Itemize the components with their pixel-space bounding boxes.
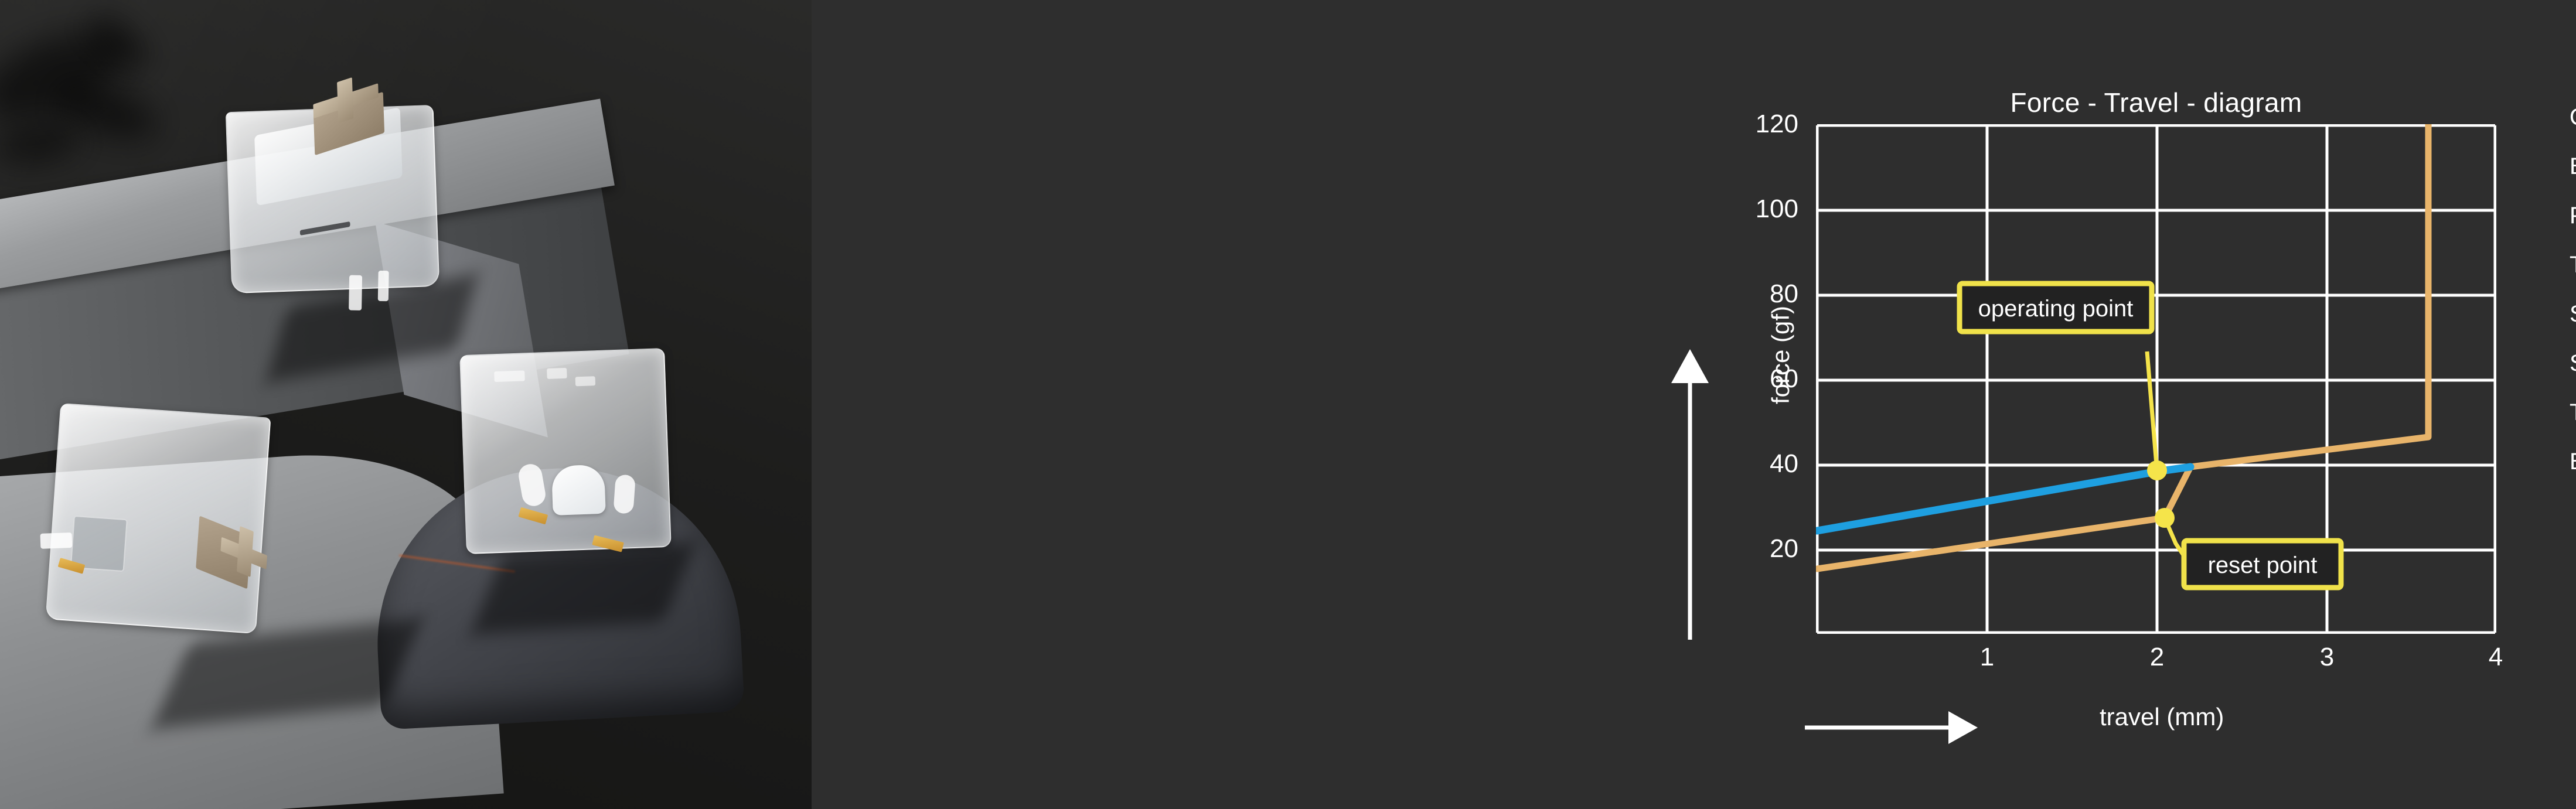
keyboard-switch-upright bbox=[226, 105, 440, 293]
x-axis-label: travel (mm) bbox=[2100, 703, 2224, 731]
x-tick-label: 4 bbox=[2461, 644, 2531, 670]
reset-point-label: reset point bbox=[2208, 552, 2318, 578]
release-curve bbox=[1817, 124, 2428, 569]
y-axis-arrow-icon bbox=[1664, 341, 1716, 646]
y-axis-ticks: 120 100 80 60 40 20 bbox=[1716, 124, 1798, 634]
spec-label: Top Housing Material bbox=[2570, 400, 2576, 426]
keyboard-switch-underside bbox=[459, 348, 672, 554]
table-row: Total travel 3.6±0.2mm bbox=[2570, 252, 2576, 301]
y-tick-label: 20 bbox=[1716, 536, 1798, 562]
switch-leg bbox=[613, 474, 636, 514]
x-axis-ticks: 1 2 3 4 bbox=[1816, 644, 2496, 680]
reset-point-marker bbox=[2155, 508, 2175, 528]
switch-rib bbox=[494, 370, 525, 382]
keyboard-switch-side bbox=[46, 403, 271, 634]
spec-label: Operation Force bbox=[2570, 104, 2576, 131]
spec-panel: Force - Travel - diagram force (gf) 120 … bbox=[812, 0, 2576, 809]
spec-label: Stem Material bbox=[2570, 350, 2576, 377]
switch-housing bbox=[459, 348, 672, 554]
y-tick-label: 60 bbox=[1716, 366, 1798, 392]
y-tick-label: 100 bbox=[1716, 196, 1798, 222]
x-tick-label: 2 bbox=[2122, 644, 2192, 670]
switch-leg bbox=[40, 532, 72, 549]
table-row: Bottom-out Force 45±5g bbox=[2570, 153, 2576, 203]
product-photo bbox=[0, 0, 812, 809]
switch-shadow bbox=[471, 542, 695, 634]
y-tick-label: 80 bbox=[1716, 281, 1798, 307]
y-tick-label: 120 bbox=[1716, 111, 1798, 137]
switch-center-post bbox=[551, 465, 606, 516]
spec-label: Bottom-out Force bbox=[2570, 153, 2576, 180]
operating-point-callout: operating point bbox=[1960, 284, 2152, 332]
x-tick-label: 1 bbox=[1952, 644, 2022, 670]
spec-label: Bottom Housing Material bbox=[2570, 449, 2576, 475]
switch-leg bbox=[378, 271, 389, 301]
table-row: Spring Length 22mm bbox=[2570, 301, 2576, 350]
specifications-table: Operation Force 36±5g Bottom-out Force 4… bbox=[2570, 104, 2576, 498]
operating-point-leader bbox=[2147, 351, 2157, 472]
operating-point-marker bbox=[2147, 460, 2167, 480]
x-tick-label: 3 bbox=[2292, 644, 2362, 670]
spec-label: Spring Length bbox=[2570, 301, 2576, 327]
spec-label: Total travel bbox=[2570, 252, 2576, 278]
switch-rib bbox=[547, 368, 567, 379]
chart-title: Force - Travel - diagram bbox=[1816, 87, 2496, 118]
reset-point-callout: reset point bbox=[2184, 541, 2341, 588]
table-row: Bottom Housing Material Modified PA6 bbox=[2570, 449, 2576, 498]
table-row: Top Housing Material Modified PA12 bbox=[2570, 400, 2576, 449]
table-row: Stem Material L4 (Modified POM) bbox=[2570, 350, 2576, 400]
y-tick-label: 40 bbox=[1716, 451, 1798, 477]
x-axis-arrow-icon bbox=[1802, 710, 1995, 745]
stem-cross-arm bbox=[337, 77, 353, 123]
switch-rib bbox=[575, 376, 596, 386]
spec-label: Pre-travel bbox=[2570, 203, 2576, 229]
table-row: Operation Force 36±5g bbox=[2570, 104, 2576, 153]
switch-leg bbox=[349, 275, 362, 310]
operating-point-label: operating point bbox=[1978, 296, 2134, 322]
table-row: Pre-travel 2.0±0.3mm bbox=[2570, 203, 2576, 252]
plot-area: operating point reset point bbox=[1816, 124, 2496, 634]
